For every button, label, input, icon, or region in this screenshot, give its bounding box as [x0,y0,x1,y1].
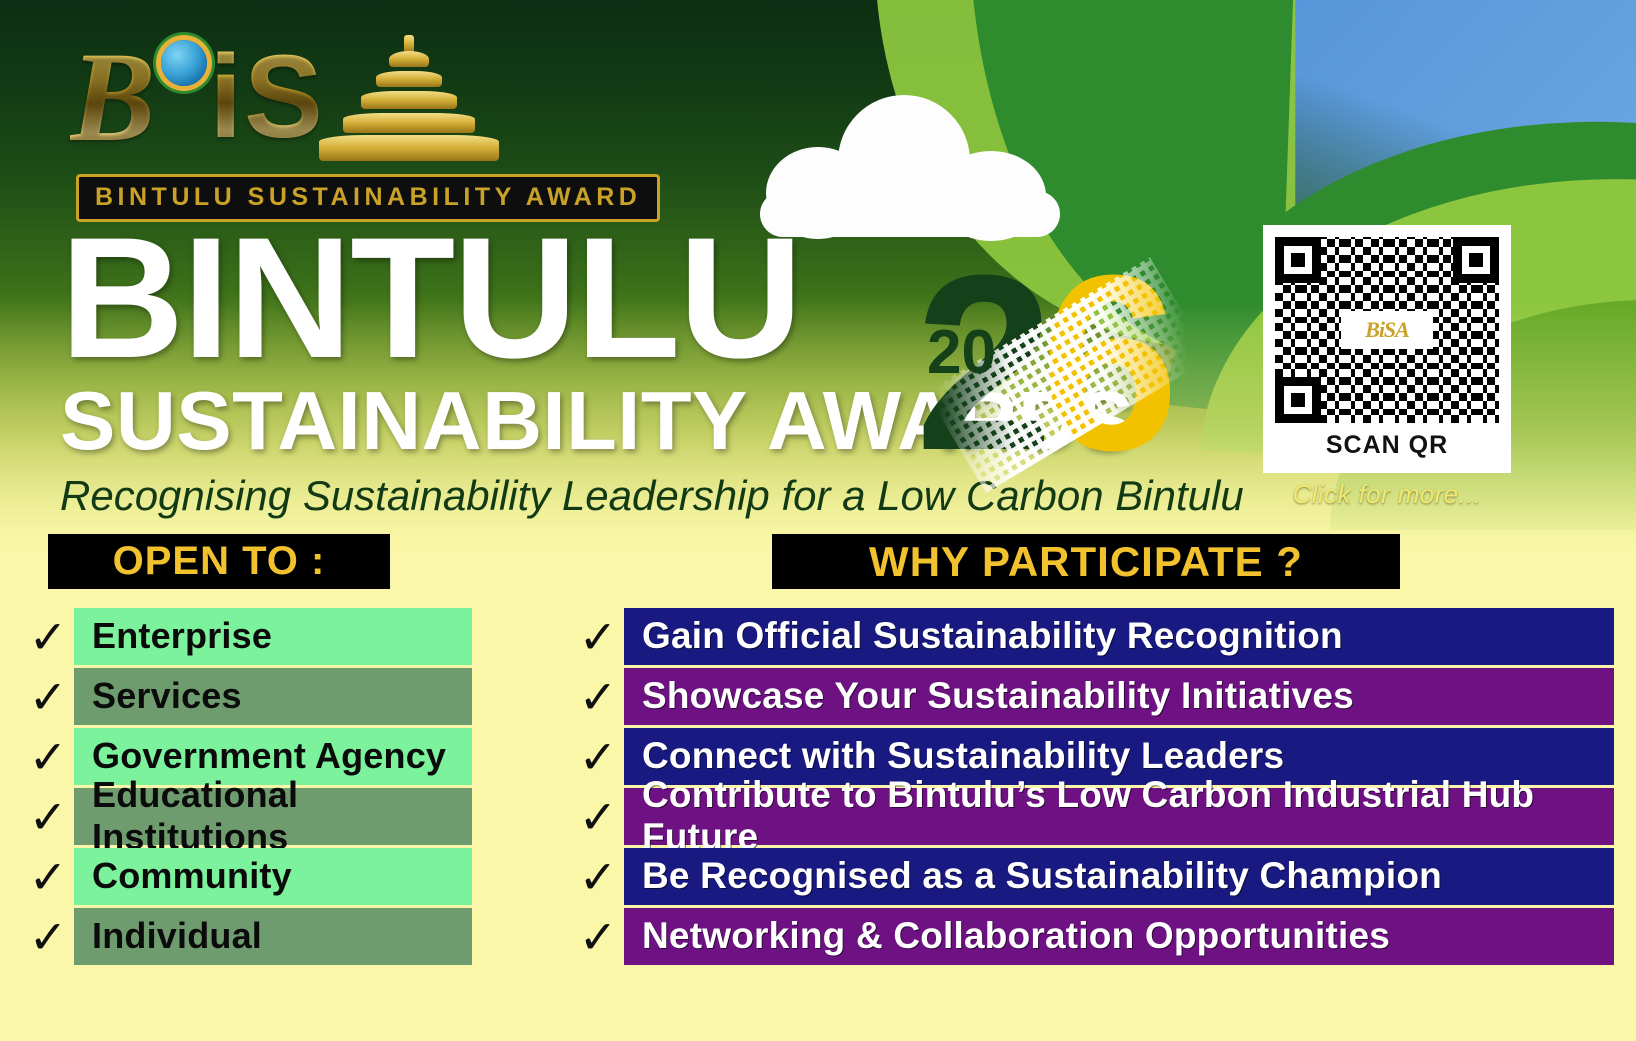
page-subtitle: SUSTAINABILITY AWARDS [60,379,1260,462]
logo-wordmark: B i S [70,22,690,172]
check-icon: ✓ [572,728,624,785]
section-heading-open-to: OPEN TO : [48,534,390,589]
logo-letter-b: B [70,33,155,161]
check-icon: ✓ [572,908,624,965]
check-icon: ✓ [572,668,624,725]
tagline: Recognising Sustainability Leadership fo… [60,472,1260,520]
check-icon: ✓ [22,608,74,665]
open-to-item-4: Community [74,848,472,905]
check-icon: ✓ [22,908,74,965]
globe-icon [161,40,207,86]
list-item: ✓Educational Institutions [22,788,472,845]
open-to-item-3: Educational Institutions [74,788,472,845]
qr-link-text[interactable]: Click for more... [1263,479,1511,510]
logo-letter-i: i [209,38,238,156]
qr-center-logo: BiSA [1341,311,1433,349]
list-item: ✓Enterprise [22,608,472,665]
list-item: ✓Community [22,848,472,905]
check-icon: ✓ [572,788,624,845]
qr-finder-icon [1275,237,1321,283]
section-heading-why-participate: WHY PARTICIPATE ? [772,534,1400,589]
logo-letter-s: S [244,38,319,156]
check-icon: ✓ [572,608,624,665]
qr-finder-icon [1275,377,1321,423]
why-participate-item-5: Networking & Collaboration Opportunities [624,908,1614,965]
open-to-item-0: Enterprise [74,608,472,665]
check-icon: ✓ [22,848,74,905]
poster-root: B i S BINTULU SUSTAINABILITY AWARD BINTU… [0,0,1636,1041]
list-item: ✓Individual [22,908,472,965]
list-item: ✓Contribute to Bintulu’s Low Carbon Indu… [572,788,1614,845]
open-to-item-1: Services [74,668,472,725]
list-item: ✓Networking & Collaboration Opportunitie… [572,908,1614,965]
qr-card[interactable]: BiSA SCAN QR [1263,225,1511,473]
list-item: ✓Gain Official Sustainability Recognitio… [572,608,1614,665]
check-icon: ✓ [572,848,624,905]
why-participate-item-1: Showcase Your Sustainability Initiatives [624,668,1614,725]
qr-panel[interactable]: BiSA SCAN QR Click for more... [1263,225,1511,510]
page-title: BINTULU [60,225,1260,373]
qr-finder-icon [1453,237,1499,283]
bisa-logo: B i S BINTULU SUSTAINABILITY AWARD [70,22,690,212]
why-participate-list: ✓Gain Official Sustainability Recognitio… [572,608,1614,968]
check-icon: ✓ [22,668,74,725]
qr-code-image[interactable]: BiSA [1275,237,1499,423]
list-item: ✓Showcase Your Sustainability Initiative… [572,668,1614,725]
why-participate-item-0: Gain Official Sustainability Recognition [624,608,1614,665]
title-block: BINTULU SUSTAINABILITY AWARDS Recognisin… [60,225,1260,520]
pagoda-icon [319,31,499,163]
check-icon: ✓ [22,728,74,785]
list-item: ✓Be Recognised as a Sustainability Champ… [572,848,1614,905]
open-to-item-5: Individual [74,908,472,965]
open-to-list: ✓Enterprise✓Services✓Government Agency✓E… [22,608,472,968]
cloud-icon [760,95,1060,230]
why-participate-item-4: Be Recognised as a Sustainability Champi… [624,848,1614,905]
qr-caption: SCAN QR [1275,431,1499,460]
check-icon: ✓ [22,788,74,845]
why-participate-item-3: Contribute to Bintulu’s Low Carbon Indus… [624,788,1614,845]
list-item: ✓Services [22,668,472,725]
